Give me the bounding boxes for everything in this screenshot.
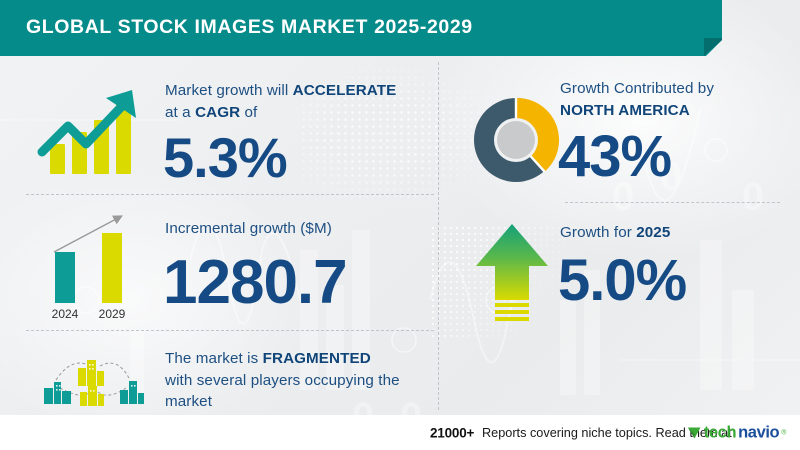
fragmented-description: The market is FRAGMENTED with several pl…	[165, 348, 433, 413]
divider-vertical	[438, 62, 439, 410]
divider-right-1	[565, 202, 780, 203]
yearly-value: 5.0%	[558, 252, 686, 310]
page-title: GLOBAL STOCK IMAGES MARKET 2025-2029	[26, 16, 473, 39]
region-label: Growth Contributed by NORTH AMERICA	[560, 78, 790, 121]
cagr-text-pre: Market growth will	[165, 82, 293, 99]
region-label-line1: Growth Contributed by	[560, 80, 714, 97]
fragmented-text-pre: The market is	[165, 350, 263, 367]
donut-chart-icon	[462, 86, 570, 194]
bar-label-2024: 2024	[52, 307, 79, 321]
logo-text-tech: tech	[704, 423, 736, 442]
cagr-description: Market growth will ACCELERATE at a CAGR …	[165, 80, 425, 123]
city-clusters-icon	[26, 348, 146, 410]
up-arrow-icon	[474, 222, 550, 322]
yearly-label-year: 2025	[636, 224, 670, 241]
region-label-north-america: NORTH AMERICA	[560, 102, 690, 119]
bar-label-2029: 2029	[99, 307, 126, 321]
cagr-value: 5.3%	[163, 130, 287, 186]
logo-registered-mark: ®	[781, 429, 786, 436]
technavio-logo[interactable]: technavio®	[687, 423, 786, 442]
cagr-text-accelerate: ACCELERATE	[293, 82, 397, 99]
footer-report-count: 21000+	[430, 425, 474, 440]
yearly-label-pre: Growth for	[560, 224, 636, 241]
fragmented-text-bold: FRAGMENTED	[263, 350, 371, 367]
region-value: 43%	[558, 128, 671, 186]
divider-left-1	[26, 194, 434, 195]
footer-bar: 21000+ Reports covering niche topics. Re…	[0, 415, 800, 450]
svg-text:0: 0	[742, 175, 764, 219]
cagr-text-line2-pre: at a	[165, 104, 195, 121]
infographic-canvas: 0 0 0 0 0 GLOBAL STOCK IMAGES MARKET 202…	[0, 0, 800, 450]
fragmented-text-line2: with several players occupying the	[165, 372, 400, 389]
incremental-label: Incremental growth ($M)	[165, 218, 332, 240]
cagr-text-cagr: CAGR	[195, 104, 240, 121]
divider-left-2	[26, 330, 434, 331]
technavio-triangle-icon	[687, 425, 702, 441]
cagr-text-line2-post: of	[240, 104, 257, 121]
fragmented-text-line3: market	[165, 393, 212, 410]
incremental-value: 1280.7	[163, 252, 347, 314]
two-bar-growth-icon: 2024 2029	[26, 206, 146, 324]
logo-text-navio: navio	[738, 423, 779, 442]
growth-arrow-bars-icon	[28, 82, 146, 178]
yearly-label: Growth for 2025	[560, 222, 670, 244]
